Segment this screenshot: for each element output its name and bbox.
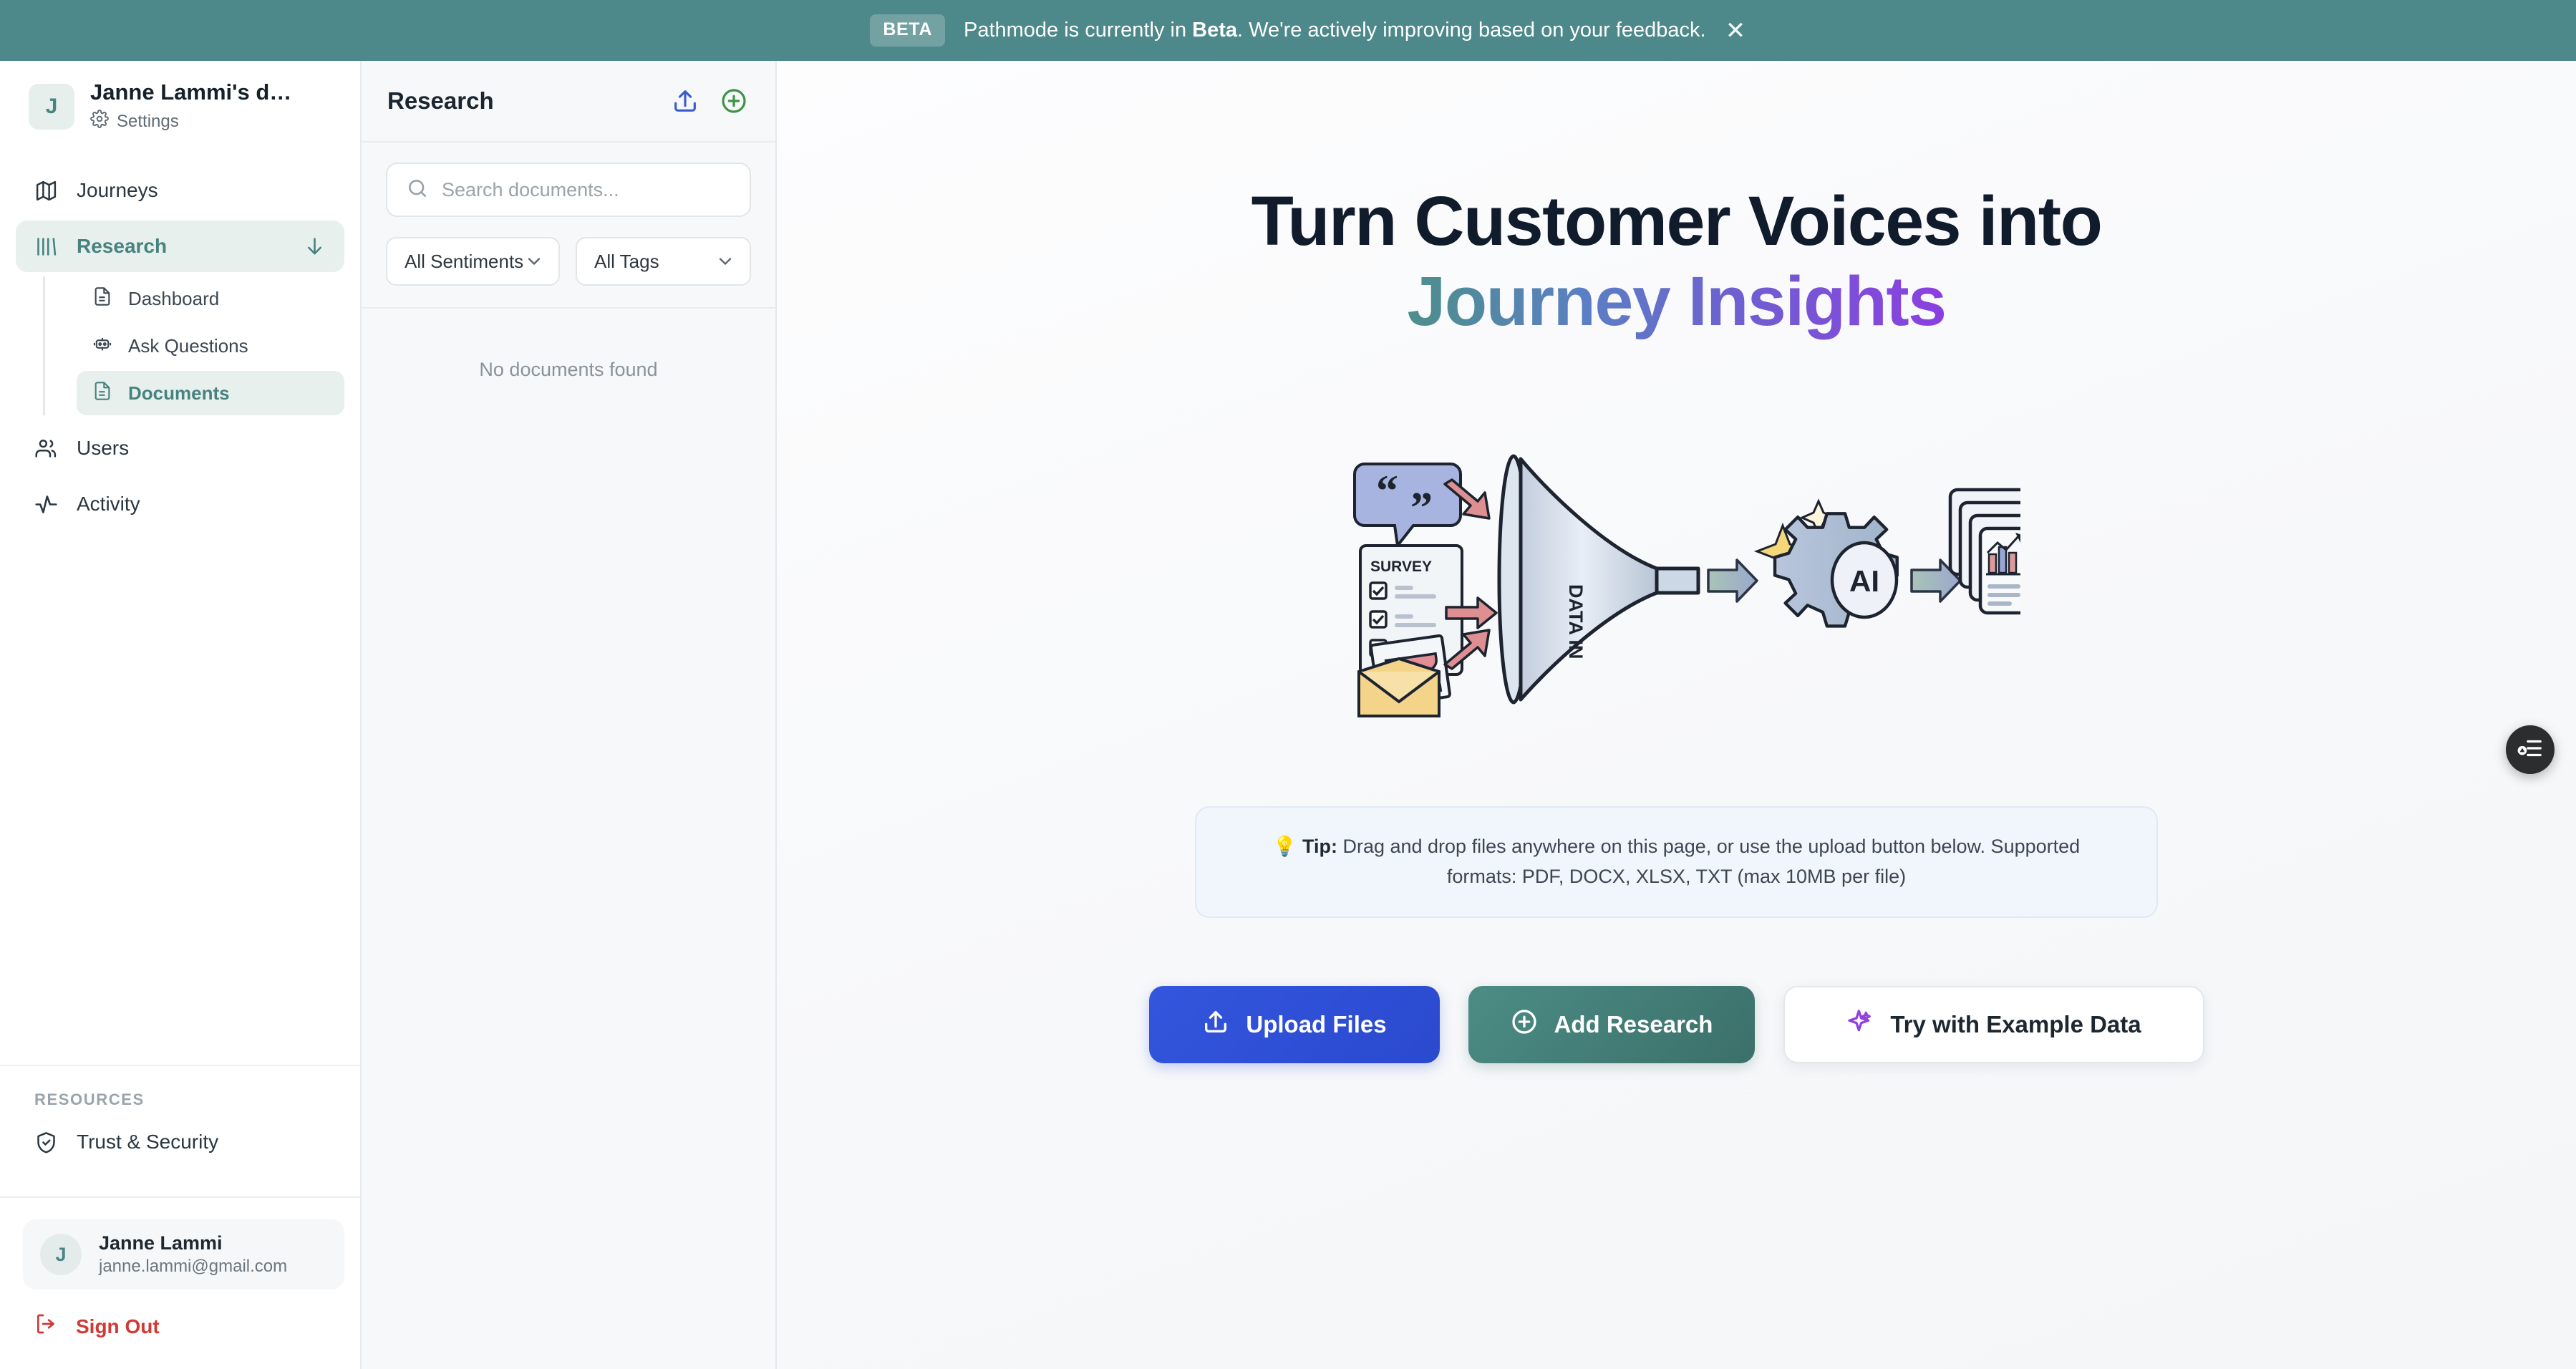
workspace-settings-label: Settings [117,112,179,132]
beta-banner-content: BETA Pathmode is currently in Beta. We'r… [870,14,1705,47]
list-play-icon [2517,735,2544,765]
tip-text: Drag and drop files anywhere on this pag… [1337,836,2080,887]
arrow-to-ai [1708,560,1757,601]
upload-icon[interactable] [669,85,701,117]
svg-text:“: “ [1376,467,1398,516]
survey-label: SURVEY [1370,558,1432,575]
beta-banner: BETA Pathmode is currently in Beta. We'r… [0,0,2576,61]
workspace-settings-link[interactable]: Settings [90,110,291,133]
funnel-label: DATA IN [1565,584,1587,659]
resources-nav: Trust & Security [0,1116,360,1196]
user-meta: Janne Lammi janne.lammi@gmail.com [99,1232,287,1277]
lightbulb-icon: 💡 [1273,836,1297,857]
banner-text-bold: Beta [1192,19,1237,42]
sidebar-item-label: Journeys [77,179,158,202]
add-research-button[interactable]: Add Research [1468,986,1755,1063]
gear-icon [90,110,109,133]
research-subnav: Dashboard Ask Questions Documents [43,276,344,415]
map-icon [34,179,58,203]
sidebar-item-journeys[interactable]: Journeys [16,165,344,216]
workspace-avatar: J [29,84,74,130]
sentiment-filter[interactable]: All Sentiments [386,237,560,286]
research-panel-header: Research [362,61,775,142]
sidebar-item-research[interactable]: Research [16,221,344,272]
sparkle-wand-icon [1846,1007,1874,1042]
ai-gear-icon: AI [1775,513,1897,626]
users-icon [34,437,58,460]
sidebar-item-label: Activity [77,493,140,516]
try-example-data-label: Try with Example Data [1890,1011,2141,1038]
chevron-down-icon [715,251,735,271]
sidebar-item-label: Research [77,235,167,258]
document-icon [92,286,112,311]
sidebar-item-users[interactable]: Users [16,422,344,474]
research-panel: Research [362,61,777,1369]
sign-out-label: Sign Out [76,1315,160,1338]
body-row: J Janne Lammi's d… Settings [0,61,2576,1369]
banner-text-after: . We're actively improving based on your… [1237,19,1706,42]
funnel-data-in: DATA IN [1499,456,1698,702]
research-panel-actions [669,85,750,117]
activity-pulse-icon [34,493,58,516]
research-filters: All Sentiments All Tags [362,142,775,309]
add-research-label: Add Research [1554,1011,1713,1038]
document-icon [92,381,112,406]
tip-box: 💡 Tip: Drag and drop files anywhere on t… [1195,806,2158,918]
robot-icon [92,334,112,359]
filter-row: All Sentiments All Tags [386,237,751,286]
workspace-name: Janne Lammi's d… [90,79,291,105]
main-content: Turn Customer Voices into Journey Insigh… [777,61,2576,1369]
sidebar-subitem-label: Documents [128,382,230,405]
sidebar-subitem-label: Ask Questions [128,335,248,357]
beta-banner-text: Pathmode is currently in Beta. We're act… [964,19,1706,42]
sidebar-item-label: Trust & Security [77,1131,218,1153]
sidebar-item-activity[interactable]: Activity [16,478,344,530]
user-email: janne.lammi@gmail.com [99,1257,287,1277]
sidebar-subitem-dashboard[interactable]: Dashboard [77,276,344,321]
search-icon [406,177,429,203]
sidebar-subitem-label: Dashboard [128,288,219,310]
envelope-icon [1359,636,1450,717]
plus-circle-icon[interactable] [718,85,750,117]
svg-text:”: ” [1410,484,1433,533]
ai-label: AI [1849,564,1879,598]
data-pipeline-illustration: “ ” SURVEY [1333,405,2020,720]
beta-badge: BETA [870,14,945,47]
user-name: Janne Lammi [99,1232,287,1254]
user-card[interactable]: J Janne Lammi janne.lammi@gmail.com [23,1219,344,1290]
sign-out-button[interactable]: Sign Out [0,1300,360,1369]
hero-headline-line1: Turn Customer Voices into [1251,183,2102,261]
shield-check-icon [34,1131,58,1154]
sidebar-nav: Journeys Research [0,155,360,1052]
upload-files-button[interactable]: Upload Files [1149,986,1440,1063]
resources-label: RESOURCES [0,1066,360,1116]
cta-row: Upload Files Add Research Try with Examp… [1149,986,2204,1063]
sidebar-item-label: Users [77,437,129,460]
report-stack-icon [1950,490,2020,613]
plus-circle-icon [1510,1007,1539,1042]
banner-text-before: Pathmode is currently in [964,19,1192,42]
sidebar-footer-divider [0,1196,360,1198]
search-input[interactable] [442,179,731,201]
research-bars-icon [34,235,58,258]
workspace-meta: Janne Lammi's d… Settings [90,79,291,133]
sentiment-filter-value: All Sentiments [405,251,523,273]
sidebar-subitem-ask-questions[interactable]: Ask Questions [77,324,344,368]
sidebar: J Janne Lammi's d… Settings [0,61,362,1369]
empty-state-message: No documents found [362,309,775,431]
avatar: J [40,1234,82,1275]
close-icon[interactable]: ✕ [1718,14,1753,48]
tags-filter[interactable]: All Tags [576,237,751,286]
chevron-down-icon [524,251,544,271]
quote-bubble-icon: “ ” [1355,464,1461,546]
sidebar-item-trust-security[interactable]: Trust & Security [16,1116,344,1168]
sign-out-icon [34,1312,57,1340]
tip-label: Tip: [1302,836,1337,857]
app-root: BETA Pathmode is currently in Beta. We'r… [0,0,2576,1369]
try-example-data-button[interactable]: Try with Example Data [1783,986,2204,1063]
workspace-header[interactable]: J Janne Lammi's d… Settings [0,61,360,155]
tags-filter-value: All Tags [594,251,659,273]
upload-files-label: Upload Files [1246,1011,1386,1038]
chevron-down-icon [303,235,326,258]
assistant-fab[interactable] [2506,725,2555,774]
page-title: Research [387,87,494,115]
hero-headline-line2: Journey Insights [1407,261,1945,342]
upload-icon [1201,1007,1230,1042]
sidebar-subitem-documents[interactable]: Documents [77,371,344,415]
search-box[interactable] [386,163,751,217]
